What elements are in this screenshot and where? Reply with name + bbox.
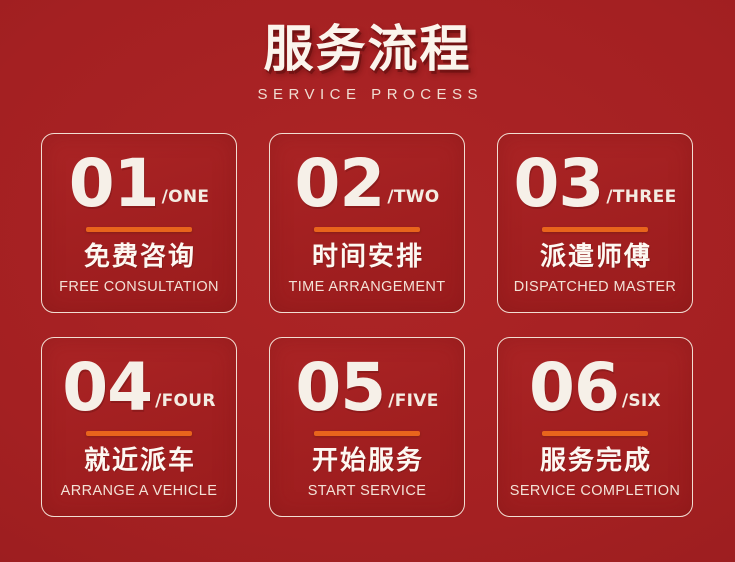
step-divider (314, 431, 420, 436)
step-number: 04 (62, 358, 152, 419)
step-number-row: 04 /FOUR (42, 349, 236, 419)
step-label-chinese: 服务完成 (538, 447, 652, 476)
step-label-chinese: 时间安排 (310, 243, 424, 272)
step-divider (86, 431, 192, 436)
step-number-row: 05 /FIVE (270, 349, 464, 419)
step-card-05: 05 /FIVE 开始服务 START SERVICE (269, 337, 465, 517)
step-card-03: 03 /THREE 派遣师傅 DISPATCHED MASTER (497, 133, 693, 313)
step-label-english: DISPATCHED MASTER (514, 279, 677, 295)
step-label-chinese: 就近派车 (82, 447, 196, 476)
step-number-row: 01 /ONE (42, 145, 236, 215)
step-label-english: ARRANGE A VEHICLE (61, 483, 218, 499)
service-process-poster: 服务流程 SERVICE PROCESS 01 /ONE 免费咨询 FREE C… (0, 0, 735, 562)
step-card-01: 01 /ONE 免费咨询 FREE CONSULTATION (41, 133, 237, 313)
step-card-02: 02 /TWO 时间安排 TIME ARRANGEMENT (269, 133, 465, 313)
poster-header: 服务流程 SERVICE PROCESS (0, 0, 735, 103)
step-number-english: /FIVE (388, 391, 438, 419)
step-number-english: /ONE (162, 187, 210, 215)
page-subtitle: SERVICE PROCESS (0, 86, 735, 103)
step-number: 02 (294, 154, 384, 215)
step-number-row: 06 /SIX (498, 349, 692, 419)
step-number-english: /THREE (606, 187, 676, 215)
step-label-english: FREE CONSULTATION (59, 279, 219, 295)
step-number-english: /SIX (622, 391, 661, 419)
step-card-06: 06 /SIX 服务完成 SERVICE COMPLETION (497, 337, 693, 517)
step-label-english: TIME ARRANGEMENT (288, 279, 445, 295)
step-label-chinese: 开始服务 (310, 447, 424, 476)
steps-grid: 01 /ONE 免费咨询 FREE CONSULTATION 02 /TWO 时… (41, 133, 694, 517)
step-divider (542, 431, 648, 436)
step-number: 05 (295, 358, 385, 419)
step-label-chinese: 派遣师傅 (538, 243, 652, 272)
step-label-english: SERVICE COMPLETION (510, 483, 681, 499)
page-title: 服务流程 (0, 22, 735, 76)
step-label-english: START SERVICE (308, 483, 427, 499)
step-number: 03 (513, 154, 603, 215)
step-divider (86, 227, 192, 232)
step-number-row: 02 /TWO (270, 145, 464, 215)
step-number: 06 (529, 358, 619, 419)
step-divider (542, 227, 648, 232)
step-number-english: /FOUR (155, 391, 216, 419)
step-card-04: 04 /FOUR 就近派车 ARRANGE A VEHICLE (41, 337, 237, 517)
step-number-english: /TWO (387, 187, 439, 215)
step-label-chinese: 免费咨询 (82, 243, 196, 272)
step-divider (314, 227, 420, 232)
step-number: 01 (69, 154, 159, 215)
step-number-row: 03 /THREE (498, 145, 692, 215)
